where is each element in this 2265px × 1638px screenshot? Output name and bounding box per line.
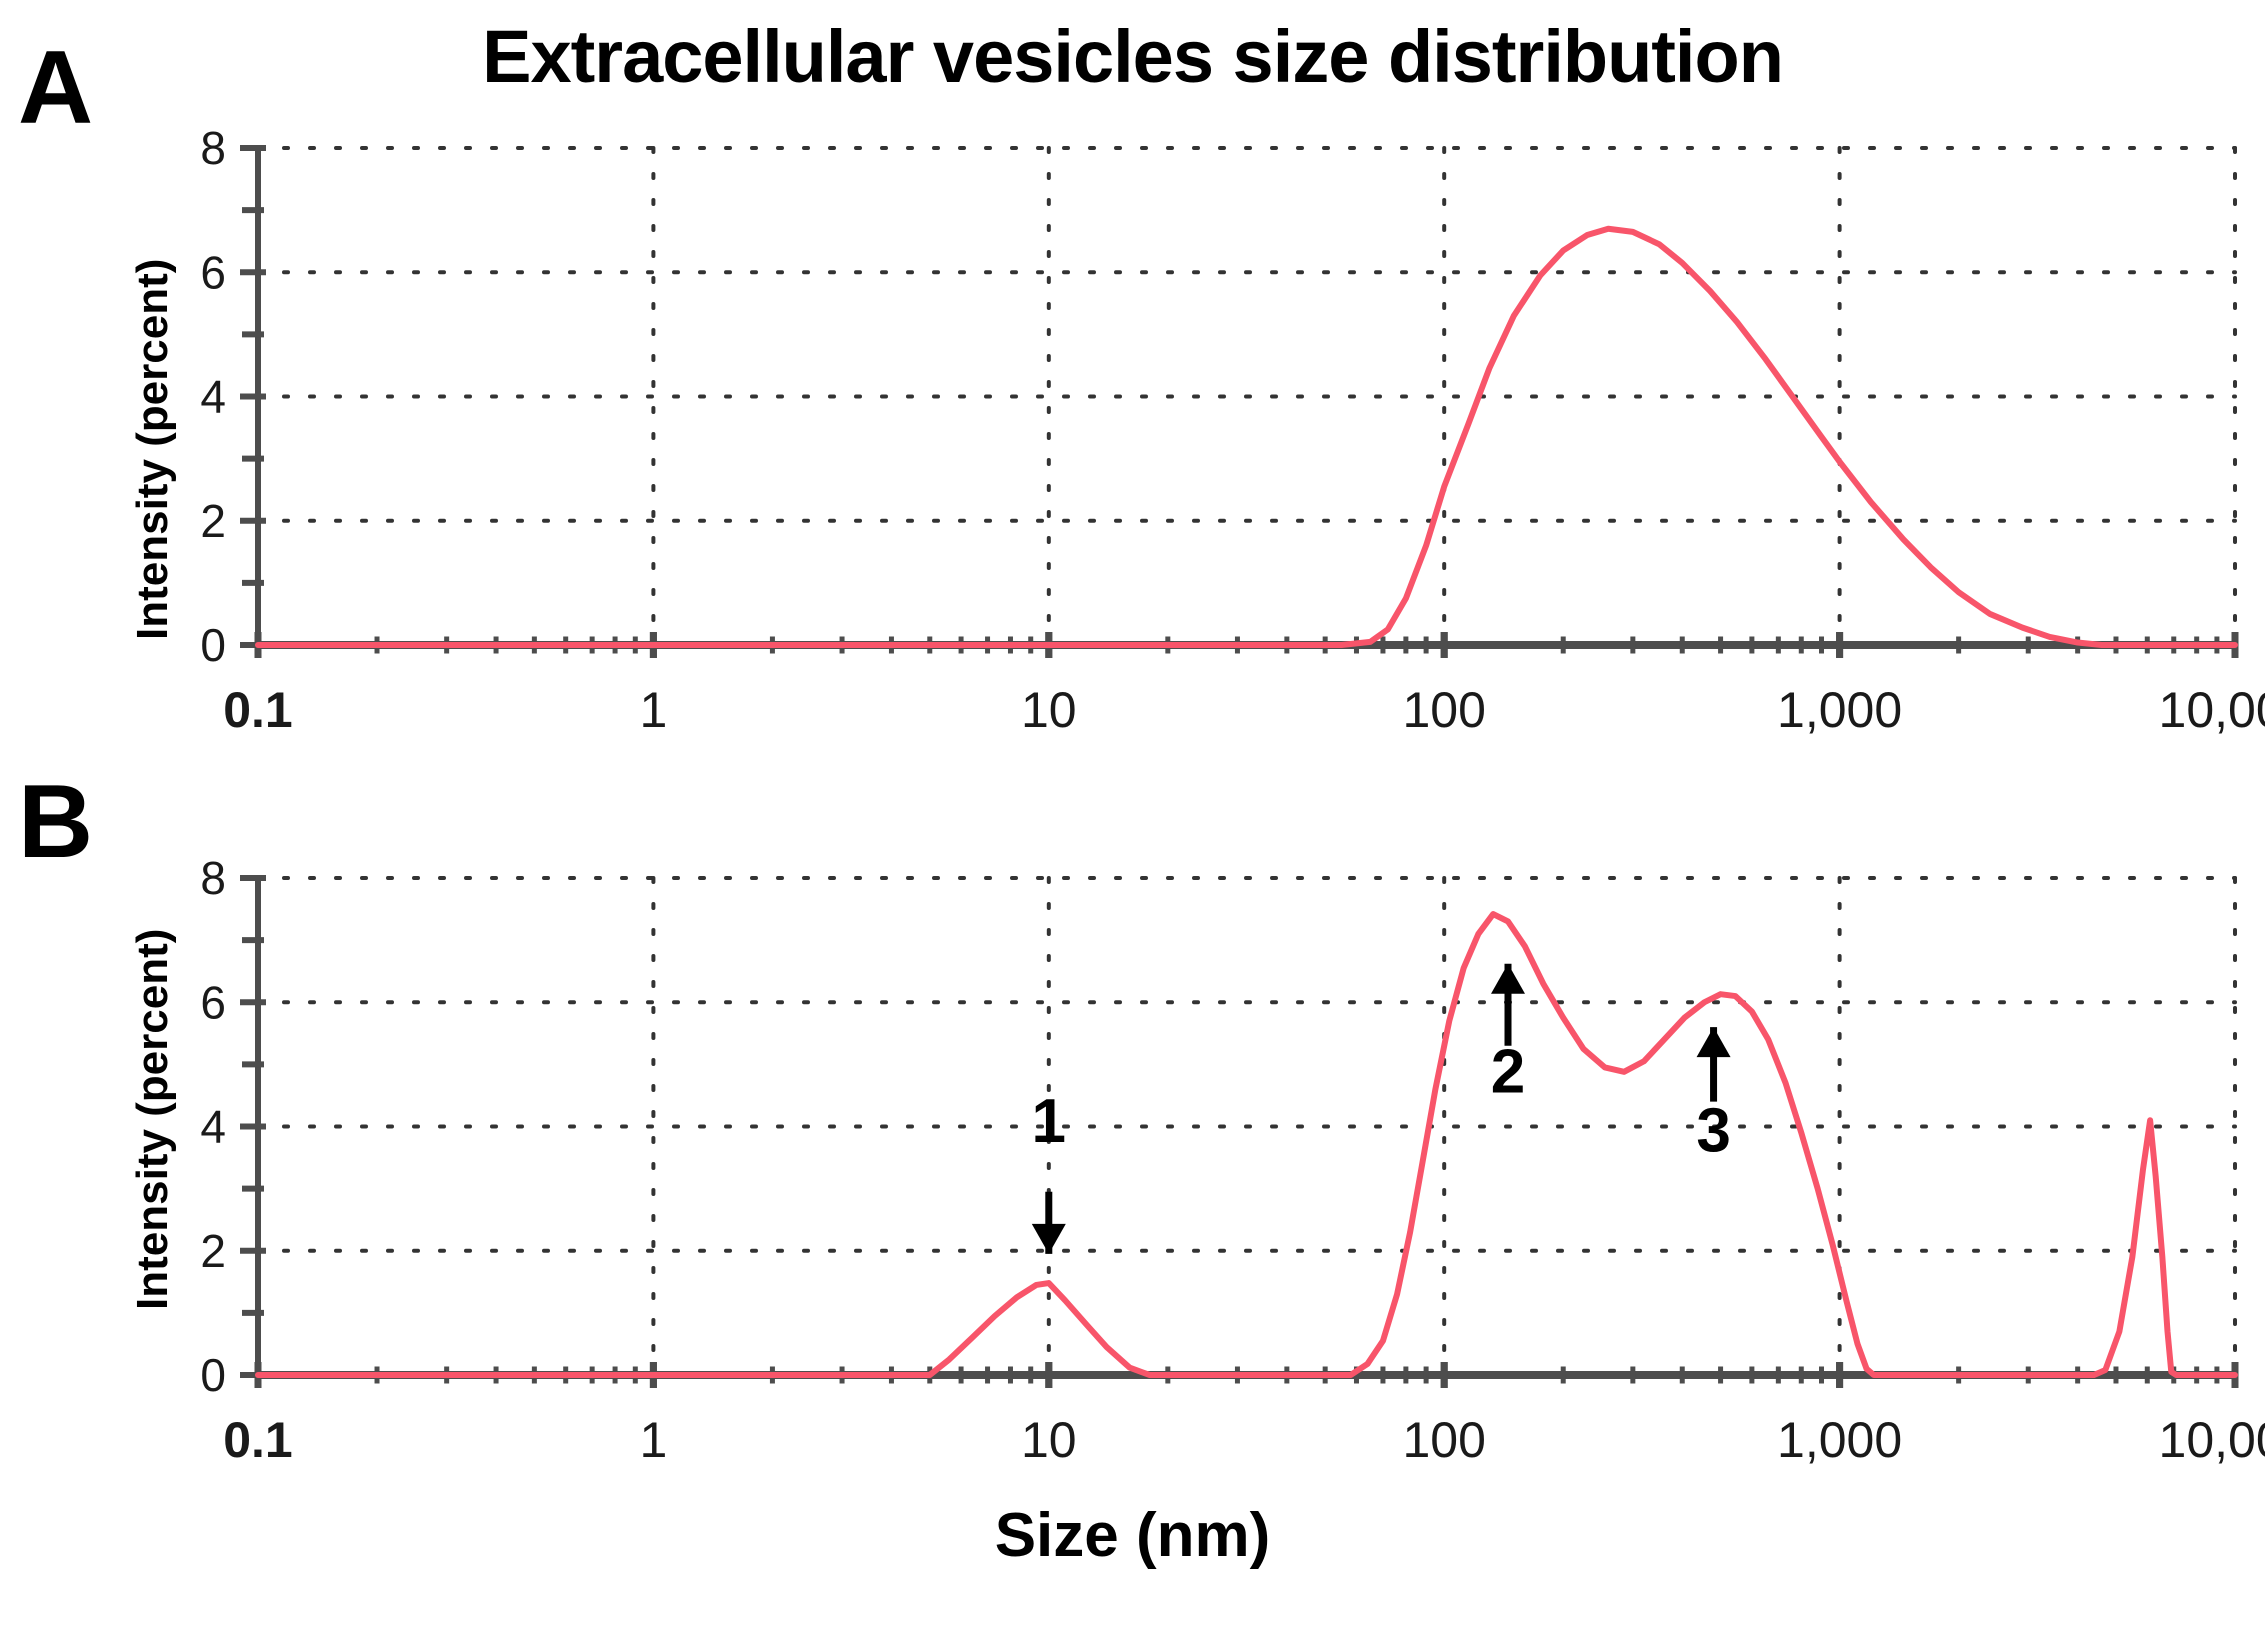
x-tick-label: 1,000 [1777,1412,1902,1468]
x-tick-label: 10 [1021,682,1077,738]
x-tick-label: 10,000 [2159,682,2265,738]
y-tick-label: 0 [200,619,226,671]
annotation-label-3: 3 [1696,1096,1730,1165]
annotation-arrow-3: 3 [1696,1027,1730,1165]
y-tick-label: 6 [200,976,226,1028]
x-tick-label: 1 [639,1412,667,1468]
x-tick-label: 0.1 [223,1412,293,1468]
y-tick-label: 8 [200,122,226,174]
y-tick-label: 6 [200,246,226,298]
y-tick-label: 2 [200,495,226,547]
data-series-line [258,914,2235,1375]
chart-svg-panel-b: 024680.11101001,00010,000123 [150,840,2240,1450]
x-axis-title: Size (nm) [0,1500,2265,1571]
arrow-head [1491,964,1525,994]
panel-label-b: B [18,770,93,874]
x-tick-label: 1 [639,682,667,738]
annotation-arrow-2: 2 [1491,964,1525,1107]
chart-panel-b: 024680.11101001,00010,000123 [150,840,2240,1450]
panel-label-a: A [18,36,93,140]
x-tick-label: 100 [1402,682,1485,738]
page-title: Extracellular vesicles size distribution [0,14,2265,99]
x-tick-label: 10 [1021,1412,1077,1468]
y-tick-label: 0 [200,1349,226,1401]
y-tick-label: 8 [200,852,226,904]
data-series-line [258,229,2235,645]
arrow-head [1697,1027,1731,1057]
x-tick-label: 0.1 [223,682,293,738]
x-tick-label: 100 [1402,1412,1485,1468]
annotation-label-2: 2 [1491,1037,1525,1106]
chart-svg-panel-a: 024680.11101001,00010,000 [150,110,2240,720]
y-tick-label: 4 [200,371,226,423]
y-tick-label: 4 [200,1101,226,1153]
y-tick-label: 2 [200,1225,226,1277]
x-tick-label: 1,000 [1777,682,1902,738]
annotation-label-1: 1 [1032,1087,1066,1156]
annotation-arrow-1: 1 [1032,1087,1066,1254]
x-tick-label: 10,000 [2159,1412,2265,1468]
chart-panel-a: 024680.11101001,00010,000 [150,110,2240,720]
figure-root: Extracellular vesicles size distribution… [0,0,2265,1638]
